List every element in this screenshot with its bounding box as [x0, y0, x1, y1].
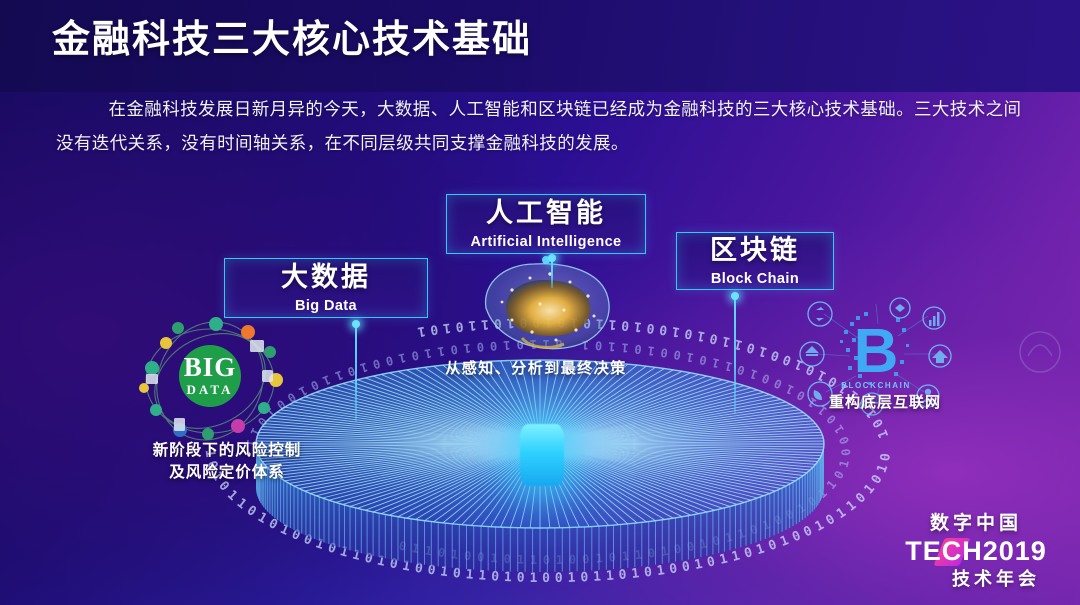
big-data-sub-label: DATA	[187, 382, 234, 397]
connector-dot-big-data	[352, 320, 360, 328]
label-ai-en: Artificial Intelligence	[470, 234, 621, 250]
label-block-chain-cn: 区块链	[710, 235, 800, 266]
connector-line-blockchain	[734, 296, 736, 414]
connector-dot-ai	[548, 254, 556, 262]
blockchain-word-label: BLOCKCHAIN	[841, 381, 911, 390]
label-big-data-cn: 大数据	[281, 262, 371, 293]
logo-line-2: TECH2019	[905, 536, 1047, 567]
big-data-main-label: BIG	[184, 352, 237, 382]
caption-big-data-line2: 及风险定价体系	[104, 462, 350, 484]
bitcoin-b-label: B	[854, 317, 899, 386]
caption-big-data-line1: 新阶段下的风险控制	[104, 440, 350, 462]
logo-line-3: 技术年会	[894, 565, 1058, 591]
label-box-block-chain[interactable]: 区块链 Block Chain	[676, 232, 834, 290]
body-paragraph: 在金融科技发展日新月异的今天，大数据、人工智能和区块链已经成为金融科技的三大核心…	[56, 92, 1028, 160]
connector-line-ai	[551, 258, 553, 288]
logo-line-1: 数字中国	[894, 508, 1058, 535]
caption-ai: 从感知、分析到最终决策	[428, 358, 644, 380]
connector-line-big-data	[355, 324, 357, 422]
label-box-big-data[interactable]: 大数据 Big Data	[224, 258, 428, 318]
ai-brain-graphic	[472, 256, 620, 360]
caption-big-data: 新阶段下的风险控制 及风险定价体系	[104, 440, 350, 485]
caption-block-chain: 重构底层互联网	[800, 392, 970, 414]
exchange-icon	[808, 302, 832, 326]
slide-canvas: 金融科技三大核心技术基础 在金融科技发展日新月异的今天，大数据、人工智能和区块链…	[0, 0, 1080, 605]
label-block-chain-en: Block Chain	[711, 271, 799, 287]
watermark-logo	[1018, 330, 1062, 374]
label-big-data-en: Big Data	[295, 298, 357, 314]
label-box-artificial-intelligence[interactable]: 人工智能 Artificial Intelligence	[446, 194, 646, 254]
page-title: 金融科技三大核心技术基础	[52, 18, 532, 64]
connector-dot-blockchain	[731, 292, 739, 300]
event-logo: 数字中国 TECH2019 技术年会	[894, 508, 1058, 591]
big-data-graphic: BIG DATA	[130, 318, 290, 444]
logo-line-2-text: TECH2019	[905, 536, 1047, 566]
core-glow	[520, 424, 564, 486]
label-ai-cn: 人工智能	[486, 198, 606, 229]
